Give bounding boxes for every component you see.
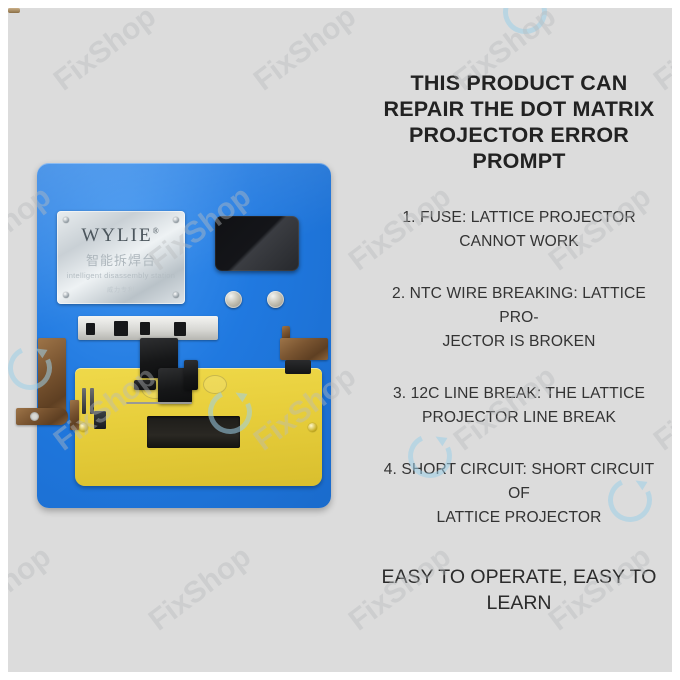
feature-item-2-line-2: JECTOR IS BROKEN xyxy=(372,330,666,354)
flex-cable-right-pin xyxy=(8,8,20,13)
product-photo: WYLIE® 智能拆焊台 intelligent disassembly sta… xyxy=(8,8,363,672)
brand-plate: WYLIE® 智能拆焊台 intelligent disassembly sta… xyxy=(57,211,185,304)
yellow-pcb-platform xyxy=(75,368,322,486)
flex-cable-right xyxy=(280,338,328,360)
connector-contact xyxy=(140,322,150,335)
flex-cable-right-connector xyxy=(285,360,311,374)
flex-cable-hole xyxy=(30,412,39,421)
test-pin xyxy=(90,388,94,414)
headline: THIS PRODUCT CAN REPAIR THE DOT MATRIX P… xyxy=(372,70,666,174)
registered-mark: ® xyxy=(153,227,161,236)
connector-strip xyxy=(78,316,218,340)
screw-icon xyxy=(63,217,69,223)
feature-item-4-line-1: 4. SHORT CIRCUIT: SHORT CIRCUIT OF xyxy=(372,458,666,506)
feature-item-2: 2. NTC WIRE BREAKING: LATTICE PRO- JECTO… xyxy=(372,282,666,354)
connector-contact xyxy=(114,321,128,336)
platform-screw-icon xyxy=(79,423,88,432)
component-wire xyxy=(126,402,192,404)
feature-item-3: 3. 12C LINE BREAK: THE LATTICE PROJECTOR… xyxy=(372,382,666,430)
feature-item-4: 4. SHORT CIRCUIT: SHORT CIRCUIT OF LATTI… xyxy=(372,458,666,530)
platform-slot xyxy=(147,416,240,448)
feature-item-3-line-1: 3. 12C LINE BREAK: THE LATTICE xyxy=(372,382,666,406)
screw-icon xyxy=(63,292,69,298)
control-button-right xyxy=(267,291,284,308)
product-infographic: WYLIE® 智能拆焊台 intelligent disassembly sta… xyxy=(0,0,680,680)
tagline: EASY TO OPERATE, EASY TO LEARN xyxy=(372,564,666,616)
camera-module-tab xyxy=(134,380,156,390)
brand-name: WYLIE® xyxy=(81,225,160,247)
flex-cable-left-small xyxy=(70,400,79,430)
platform-chip xyxy=(94,411,106,429)
screw-icon xyxy=(173,217,179,223)
camera-module-side xyxy=(184,360,198,390)
infographic-panel: WYLIE® 智能拆焊台 intelligent disassembly sta… xyxy=(8,8,672,672)
platform-notch xyxy=(203,375,227,394)
test-pin xyxy=(82,388,86,414)
brand-chinese-title: 智能拆焊台 xyxy=(86,250,156,269)
brand-text: WYLIE xyxy=(81,225,152,246)
display-screen xyxy=(215,216,299,271)
feature-item-4-line-2: LATTICE PROJECTOR xyxy=(372,506,666,530)
brand-english-subtitle: intelligent disassembly station xyxy=(67,271,176,280)
connector-contact xyxy=(174,322,186,336)
feature-item-1-line-2: CANNOT WORK xyxy=(372,230,666,254)
brand-small-text: 威力专利 xyxy=(107,285,135,294)
feature-item-1: 1. FUSE: LATTICE PROJECTOR CANNOT WORK xyxy=(372,206,666,254)
feature-item-2-line-1: 2. NTC WIRE BREAKING: LATTICE PRO- xyxy=(372,282,666,330)
connector-contact xyxy=(86,323,95,335)
screw-icon xyxy=(173,292,179,298)
flex-cable-left-tab xyxy=(16,408,68,425)
platform-screw-icon xyxy=(308,423,317,432)
control-button-left xyxy=(225,291,242,308)
marketing-text-column: THIS PRODUCT CAN REPAIR THE DOT MATRIX P… xyxy=(366,8,672,672)
feature-item-3-line-2: PROJECTOR LINE BREAK xyxy=(372,406,666,430)
feature-item-1-line-1: 1. FUSE: LATTICE PROJECTOR xyxy=(372,206,666,230)
